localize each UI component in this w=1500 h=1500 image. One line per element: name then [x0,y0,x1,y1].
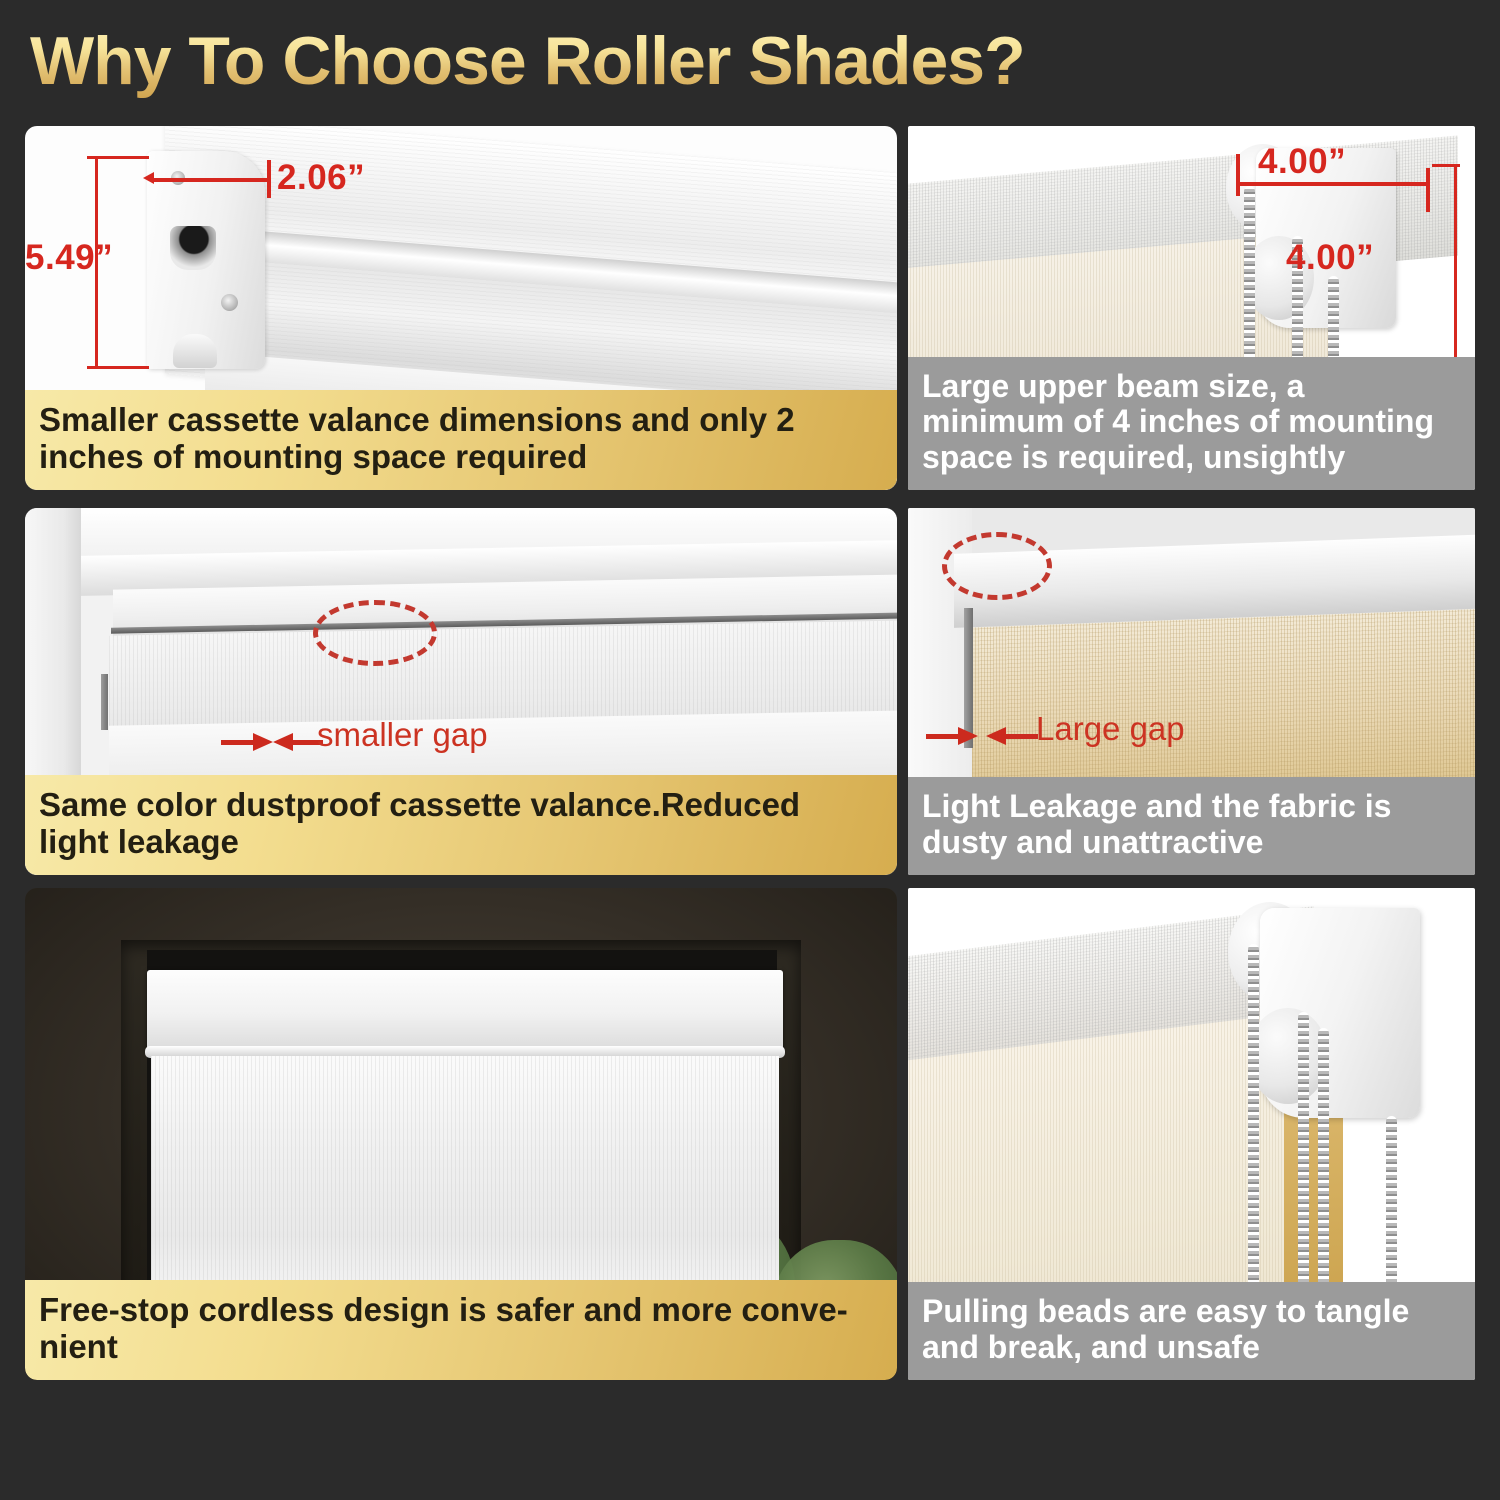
highlight-ellipse-icon [942,532,1052,600]
panel-3-caption: Same color dustproof cassette valance.Re… [25,775,897,875]
dimension-label-height: 4.00” [1286,238,1374,278]
caption-line: and break, and unsafe [922,1330,1461,1366]
caption-line: inches of mounting space required [39,439,883,476]
dimension-line-width [1238,182,1430,186]
panel-pulling-beads: Pulling beads are easy to tangle and bre… [908,888,1475,1380]
dimension-tick [1236,154,1240,196]
dimension-tick [87,366,149,369]
panel-large-gap: Large gap Light Leakage and the fabric i… [908,508,1475,875]
caption-line: Free-stop cordless design is safer and m… [39,1292,883,1329]
dimension-tick [87,156,149,159]
cassette-valance [147,970,783,1050]
gap-arrow-left-icon [986,727,1006,745]
caption-line: space is required, unsightly [922,440,1461,476]
highlight-ellipse-icon [313,600,437,666]
gap-edge [101,674,108,730]
dimension-tick [1432,164,1460,167]
caption-line: Pulling beads are easy to tangle [922,1294,1461,1330]
dimension-label-width: 4.00” [1258,142,1346,182]
screw-icon [221,294,238,311]
dimension-label-height: 5.49” [25,238,113,278]
panel-smaller-gap: smaller gap Same color dustproof cassett… [25,508,897,875]
valance-knob [173,334,217,368]
page-title: Why To Choose Roller Shades? [30,22,1130,100]
dimension-arrow-left-icon [143,172,154,184]
gap-label-smaller: smaller gap [317,716,488,754]
caption-line: nient [39,1329,883,1366]
panel-5-caption: Free-stop cordless design is safer and m… [25,1280,897,1380]
gap-label-large: Large gap [1036,710,1185,748]
panel-2-caption: Large upper beam size, a minimum of 4 in… [908,357,1475,490]
panel-1-caption: Smaller cassette valance dimensions and … [25,390,897,490]
dusty-fabric [972,608,1475,797]
dimension-line-width [151,178,269,182]
caption-line: Large upper beam size, a [922,369,1461,405]
caption-line: Smaller cassette valance dimensions and … [39,402,883,439]
caption-line: dusty and unattractive [922,825,1461,861]
panel-large-upper-beam: 4.00” 4.00” Large upper beam size, a min… [908,126,1475,490]
gap-arrow-stem [926,734,960,739]
panel-smaller-cassette: 2.06” 5.49” Smaller cassette valance dim… [25,126,897,490]
gap-arrow-stem [221,740,255,745]
gap-arrow-left-icon [273,733,293,751]
valance-mechanism-icon [170,226,216,270]
panel-6-caption: Pulling beads are easy to tangle and bre… [908,1282,1475,1380]
gap-arrow-stem [1004,734,1038,739]
dimension-tick [1426,168,1430,212]
panel-4-caption: Light Leakage and the fabric is dusty an… [908,777,1475,875]
dimension-tick [267,160,271,198]
gap-arrow-right-icon [958,727,978,745]
roller-tube-back [1248,1008,1328,1104]
caption-line: minimum of 4 inches of mounting [922,404,1461,440]
caption-line: Light Leakage and the fabric is [922,789,1461,825]
caption-line: light leakage [39,824,883,861]
panel-cordless-design: Free-stop cordless design is safer and m… [25,888,897,1380]
dimension-label-width: 2.06” [277,158,365,198]
gap-arrow-right-icon [253,733,273,751]
roller-shade-fabric [151,1056,779,1296]
caption-line: Same color dustproof cassette valance.Re… [39,787,883,824]
